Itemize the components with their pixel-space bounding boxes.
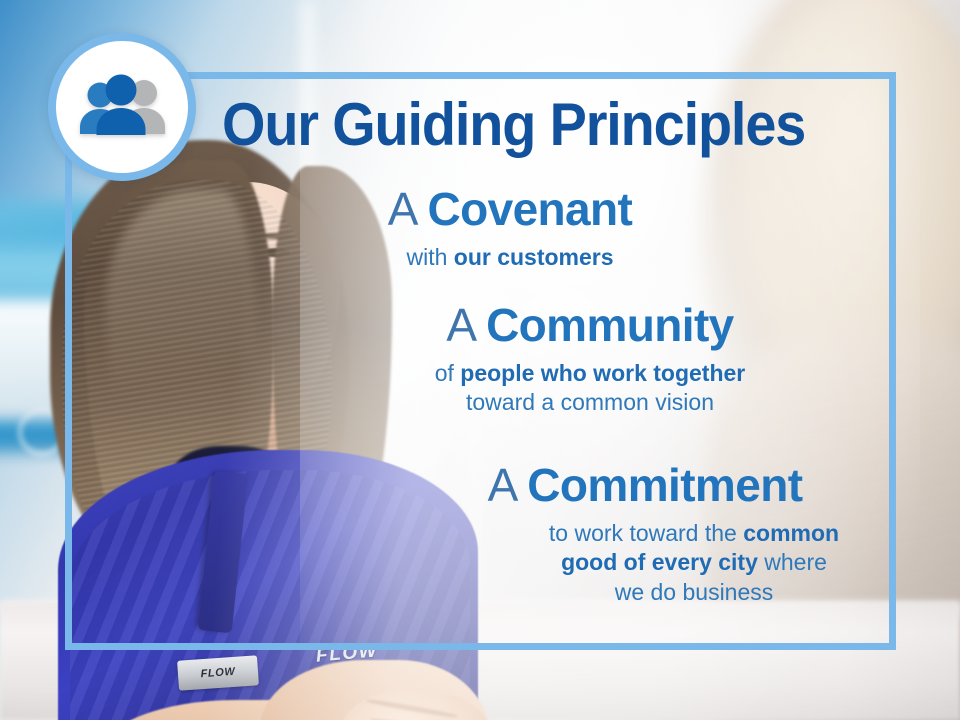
text-run: with (406, 244, 453, 270)
description-line: to work toward the common (504, 519, 884, 548)
text-run: to work toward the (549, 520, 743, 546)
text-run-bold: our customers (454, 244, 614, 270)
text-run: of (435, 360, 461, 386)
page-title: Our Guiding Principles (216, 95, 811, 155)
principle-article: A (488, 459, 516, 511)
principle-keyword: Community (486, 299, 734, 351)
principle-heading: A Covenant (300, 186, 720, 234)
principle-description: with our customers (300, 243, 720, 272)
principle-article: A (446, 299, 474, 351)
principle-covenant: A Covenant with our customers (300, 186, 720, 272)
text-run-bold: people who work together (460, 360, 745, 386)
description-line: we do business (504, 578, 884, 607)
principle-heading: A Commitment (400, 462, 890, 510)
principle-heading: A Community (340, 302, 840, 350)
text-run: we do business (615, 579, 774, 605)
guiding-principles-graphic: FLOW FLOW (0, 0, 960, 720)
principle-description: to work toward the common good of every … (504, 519, 884, 607)
text-run-bold: good of every city (561, 549, 758, 575)
text-content: Our Guiding Principles A Covenant with o… (0, 0, 960, 720)
principle-article: A (388, 183, 416, 235)
description-line: toward a common vision (340, 388, 840, 417)
principle-keyword: Commitment (527, 459, 802, 511)
text-run: where (758, 549, 827, 575)
principle-community: A Community of people who work together … (340, 302, 840, 418)
description-line: good of every city where (504, 548, 884, 577)
description-line: of people who work together (340, 359, 840, 388)
principle-commitment: A Commitment to work toward the common g… (400, 462, 890, 607)
text-run-bold: common (743, 520, 839, 546)
description-line: with our customers (300, 243, 720, 272)
principle-description: of people who work together toward a com… (340, 359, 840, 418)
principle-keyword: Covenant (427, 183, 632, 235)
text-run: toward a common vision (466, 389, 714, 415)
